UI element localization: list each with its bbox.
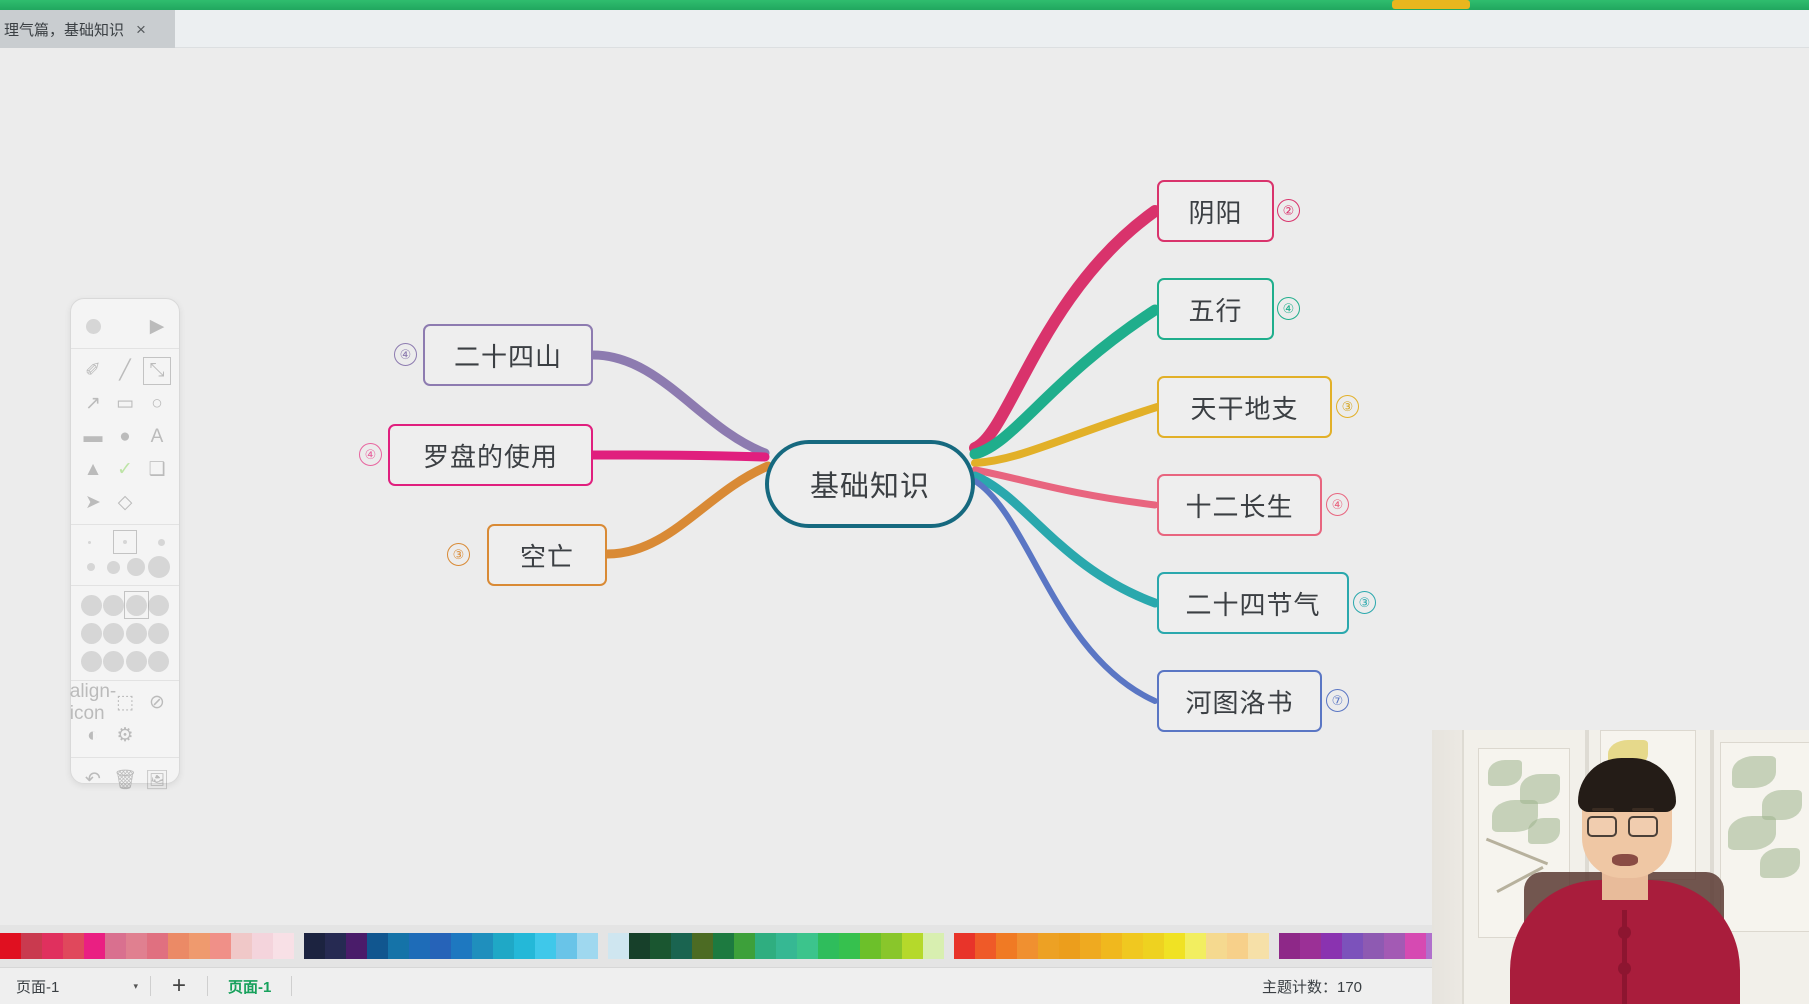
color-swatch[interactable] [629,933,650,959]
page-select-label: 页面-1 [16,976,59,997]
mindmap-node-ershisishan[interactable]: 二十四山 [423,324,593,386]
node-badge[interactable]: ④ [359,443,382,466]
image-stamp-tool-icon[interactable]: ❑ [144,457,170,483]
color-swatch[interactable] [1059,933,1080,959]
document-tab-label: 理气篇，基础知识 [4,19,124,40]
presenter-eyebrow [1632,808,1654,811]
color-swatch[interactable] [1321,933,1342,959]
color-swatch[interactable] [273,933,294,959]
painting-foliage [1488,760,1522,786]
color-swatch[interactable] [577,933,598,959]
image-button-icon[interactable]: 🖼 [144,767,170,793]
node-badge[interactable]: ⑦ [1326,689,1349,712]
color-swatch[interactable] [556,933,577,959]
color-dot[interactable] [148,620,171,646]
document-tabstrip: 理气篇，基础知识 × [0,10,1809,48]
color-swatch[interactable] [451,933,472,959]
color-swatch[interactable] [21,933,42,959]
color-swatch[interactable] [902,933,923,959]
arrow-tool-icon[interactable]: ⤡ [144,358,170,384]
color-dot-selected[interactable] [125,592,148,618]
color-swatch[interactable] [1363,933,1384,959]
mindmap-node-shierchangsheng[interactable]: 十二长生 [1157,474,1322,536]
stroke-dot-3-icon[interactable] [125,554,148,580]
page-tab-1[interactable]: 页面-1 [208,976,291,997]
painting-foliage [1528,818,1560,844]
mindmap-root-node[interactable]: 基础知识 [765,440,975,528]
color-swatch[interactable] [1080,933,1101,959]
delete-button-icon[interactable]: 🗑 [112,767,138,793]
color-swatch[interactable] [189,933,210,959]
color-swatch[interactable] [388,933,409,959]
divider [291,976,292,996]
color-swatch[interactable] [608,933,629,959]
presenter-mouth [1612,854,1638,866]
pointer-tool-icon[interactable]: ↗ [80,391,106,417]
undo-button-icon[interactable]: ↶ [80,767,106,793]
close-icon[interactable]: × [136,21,146,38]
color-swatch[interactable] [1122,933,1143,959]
text-tool-icon[interactable]: A [144,424,170,450]
color-swatch[interactable] [1101,933,1122,959]
color-swatch[interactable] [1248,933,1269,959]
color-dot[interactable] [103,620,126,646]
color-swatch[interactable] [713,933,734,959]
line-tool-icon[interactable]: ╱ [112,358,138,384]
node-label: 二十四山 [454,337,562,374]
color-swatch[interactable] [954,933,975,959]
contrast-icon[interactable]: ◐ [80,723,106,749]
page-select-dropdown[interactable]: 页面-1 ▾ [0,968,150,1004]
color-swatch[interactable] [860,933,881,959]
color-swatch[interactable] [63,933,84,959]
color-swatch[interactable] [923,933,944,959]
highlighter-tool-icon[interactable]: ✓ [112,457,138,483]
node-label: 二十四节气 [1185,585,1320,622]
node-label: 空亡 [520,537,574,574]
root-node-label: 基础知识 [810,463,930,505]
node-label: 河图洛书 [1185,683,1293,720]
node-badge[interactable]: ③ [1336,395,1359,418]
add-page-button[interactable]: + [151,972,207,1000]
color-swatch[interactable] [493,933,514,959]
settings-gear-icon[interactable]: ⚙ [112,723,138,749]
node-badge[interactable]: ③ [447,543,470,566]
triangle-tool-icon[interactable]: ▲ [80,457,106,483]
color-dot[interactable] [80,648,103,674]
color-swatch[interactable] [105,933,126,959]
titlebar-action-button[interactable] [1392,0,1470,9]
mindmap-node-kongwang[interactable]: 空亡 [487,524,607,586]
palette-options: align-icon ⬚ ⊘ ◐ ⚙ [71,681,179,758]
node-badge[interactable]: ④ [1326,493,1349,516]
mindmap-node-tianganDizhi[interactable]: 天干地支 [1157,376,1332,438]
painting-foliage [1728,816,1776,850]
stroke-size-s-icon[interactable] [114,531,136,553]
mindmap-application: 理气篇，基础知识 × 基础知识 阴阳 ② 五行 [0,0,1809,1004]
brush-tool-icon[interactable]: ✐ [80,358,106,384]
shirt-button [1618,962,1631,975]
node-label: 罗盘的使用 [423,437,558,474]
color-dot[interactable] [148,648,171,674]
circle-fill-tool-icon[interactable]: ● [112,424,138,450]
color-swatch[interactable] [346,933,367,959]
window-titlebar [0,0,1809,10]
mindmap-node-luopandeshiyong[interactable]: 罗盘的使用 [388,424,593,486]
color-swatch[interactable] [776,933,797,959]
color-swatch[interactable] [996,933,1017,959]
node-label: 十二长生 [1185,487,1293,524]
painting-foliage [1732,756,1776,788]
palette-actions: ↶ 🗑 🖼 [71,758,179,801]
document-tab[interactable]: 理气篇，基础知识 × [0,10,175,48]
color-swatch[interactable] [147,933,168,959]
node-badge[interactable]: ④ [394,343,417,366]
color-swatch[interactable] [1384,933,1405,959]
palette-stroke-sizes [71,525,179,586]
color-swatch[interactable] [1405,933,1426,959]
color-dot[interactable] [103,592,126,618]
color-swatch[interactable] [734,933,755,959]
no-fill-icon[interactable]: ⊘ [144,690,170,716]
color-swatch[interactable] [1279,933,1300,959]
node-badge[interactable]: ② [1277,199,1300,222]
color-swatch[interactable] [1206,933,1227,959]
color-swatch[interactable] [1342,933,1363,959]
color-swatch[interactable] [84,933,105,959]
drawing-tool-palette[interactable]: ▶ ✐ ╱ ⤡ ↗ ▭ ○ ▬ ● A [70,298,180,784]
color-swatch[interactable] [1164,933,1185,959]
palette-color-dots [71,586,179,681]
palette-tools: ✐ ╱ ⤡ ↗ ▭ ○ ▬ ● A ▲ ✓ ❑ [71,349,179,525]
color-swatch[interactable] [818,933,839,959]
color-swatch[interactable] [42,933,63,959]
color-swatch[interactable] [472,933,493,959]
mindmap-node-hetuluoshu[interactable]: 河图洛书 [1157,670,1322,732]
color-swatch[interactable] [535,933,556,959]
play-icon[interactable]: ▶ [144,314,170,340]
node-badge[interactable]: ③ [1353,591,1376,614]
chevron-down-icon[interactable]: ▾ [133,981,138,992]
color-swatch[interactable] [252,933,273,959]
shirt-button [1618,926,1631,939]
color-swatch[interactable] [304,933,325,959]
color-swatch[interactable] [650,933,671,959]
theme-count-label: 主题计数：170 [1262,976,1362,997]
eyeglasses-lens [1628,816,1658,837]
color-swatch[interactable] [325,933,346,959]
painting-foliage [1760,848,1800,878]
color-swatch[interactable] [1227,933,1248,959]
color-dot[interactable] [80,592,103,618]
mindmap-node-ershisijieqi[interactable]: 二十四节气 [1157,572,1349,634]
color-swatch[interactable] [168,933,189,959]
align-icon[interactable]: align-icon [80,690,106,716]
palette-header: ▶ [71,305,179,349]
mindmap-node-wuxing[interactable]: 五行 [1157,278,1274,340]
stroke-dot-2-icon[interactable] [103,554,126,580]
color-swatch[interactable] [210,933,231,959]
eyeglasses-lens [1587,816,1617,837]
color-dot[interactable] [103,648,126,674]
color-dot[interactable] [125,620,148,646]
stroke-size-xs-icon[interactable] [80,533,98,551]
stroke-dot-4-icon[interactable] [148,554,171,580]
color-swatch[interactable] [1143,933,1164,959]
color-dot[interactable] [148,592,171,618]
color-dot[interactable] [80,620,103,646]
color-swatch[interactable] [755,933,776,959]
stroke-size-m-icon[interactable] [152,533,170,551]
node-label: 五行 [1188,291,1242,328]
select-tool-icon[interactable]: ➤ [80,490,106,516]
webcam-overlay[interactable] [1432,730,1809,1004]
record-dot-icon[interactable] [80,314,106,340]
color-swatch[interactable] [1038,933,1059,959]
node-label: 阴阳 [1188,193,1242,230]
node-label: 天干地支 [1190,389,1298,426]
stroke-dot-1-icon[interactable] [80,554,103,580]
mindmap-node-yinyang[interactable]: 阴阳 [1157,180,1274,242]
color-swatch[interactable] [692,933,713,959]
color-swatch[interactable] [881,933,902,959]
shirt-placket [1622,910,1627,1004]
color-swatch[interactable] [1185,933,1206,959]
color-swatch[interactable] [126,933,147,959]
color-swatch[interactable] [367,933,388,959]
color-swatch[interactable] [0,933,21,959]
color-swatch[interactable] [797,933,818,959]
circle-outline-tool-icon[interactable]: ○ [144,391,170,417]
color-swatch[interactable] [514,933,535,959]
eraser-tool-icon[interactable]: ◇ [112,490,138,516]
node-badge[interactable]: ④ [1277,297,1300,320]
color-swatch[interactable] [1017,933,1038,959]
rect-fill-tool-icon[interactable]: ▬ [80,424,106,450]
presenter-eyebrow [1592,808,1614,811]
color-swatch[interactable] [671,933,692,959]
color-dot[interactable] [125,648,148,674]
dashed-rect-icon[interactable]: ⬚ [112,690,138,716]
color-swatch[interactable] [231,933,252,959]
rect-outline-tool-icon[interactable]: ▭ [112,391,138,417]
color-swatch[interactable] [409,933,430,959]
color-swatch[interactable] [839,933,860,959]
color-swatch[interactable] [430,933,451,959]
color-swatch[interactable] [975,933,996,959]
color-swatch[interactable] [1300,933,1321,959]
